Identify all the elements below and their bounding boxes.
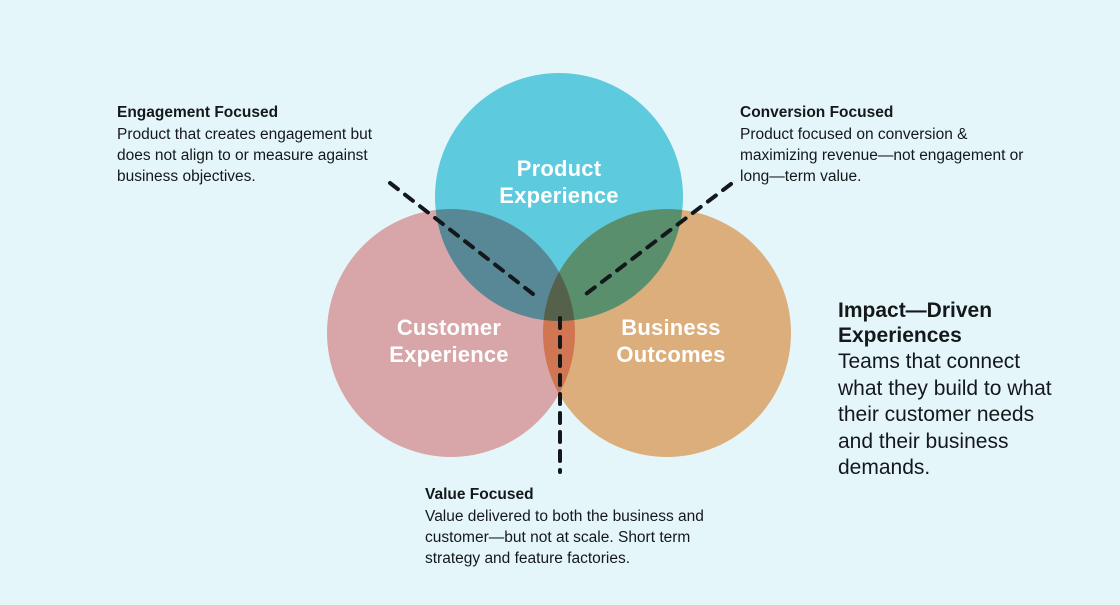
annotation-conversion-focused: Conversion Focused Product focused on co… [740, 102, 1030, 187]
annotation-engagement-title: Engagement Focused [117, 102, 407, 123]
venn-label-customer-experience: Customer Experience [349, 314, 549, 368]
annotation-engagement-body: Product that creates engagement but does… [117, 124, 407, 187]
venn-label-product-experience: Product Experience [459, 155, 659, 209]
annotation-value-title: Value Focused [425, 484, 745, 505]
annotation-conversion-title: Conversion Focused [740, 102, 1030, 123]
annotation-conversion-body: Product focused on conversion & maximizi… [740, 124, 1030, 187]
annotation-impact-driven-experiences: Impact—Driven Experiences Teams that con… [838, 298, 1068, 482]
venn-label-business-outcomes: Business Outcomes [571, 314, 771, 368]
annotation-impact-title: Impact—Driven Experiences [838, 298, 1068, 348]
annotation-value-focused: Value Focused Value delivered to both th… [425, 484, 745, 569]
diagram-canvas: Product Experience Customer Experience B… [0, 0, 1120, 605]
annotation-impact-body: Teams that connect what they build to wh… [838, 349, 1068, 482]
annotation-engagement-focused: Engagement Focused Product that creates … [117, 102, 407, 187]
annotation-value-body: Value delivered to both the business and… [425, 506, 745, 569]
